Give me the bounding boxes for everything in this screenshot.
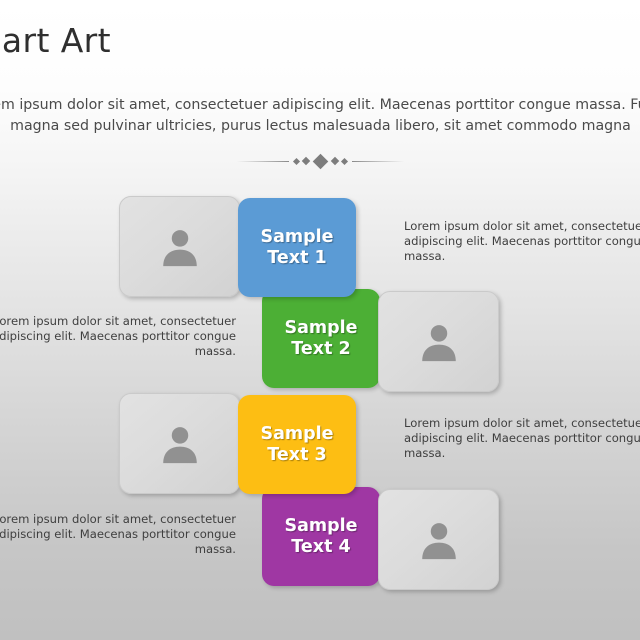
page-title: Smart Art <box>0 21 111 60</box>
description-2: Lorem ipsum dolor sit amet, consectetuer… <box>0 314 236 360</box>
page-subtitle: Lorem ipsum dolor sit amet, consectetuer… <box>0 95 640 137</box>
label-line-1: Sample <box>260 424 333 445</box>
divider-rule-left <box>237 161 289 162</box>
diagram-row-4: Sample Text 4 Lorem ipsum dolor sit amet… <box>0 487 640 590</box>
label-line-2: Text 4 <box>291 537 350 558</box>
label-card-2[interactable]: Sample Text 2 <box>262 289 380 388</box>
diamond-icon <box>330 157 338 165</box>
description-3: Lorem ipsum dolor sit amet, consectetuer… <box>404 416 640 462</box>
divider-gems <box>289 156 352 167</box>
label-card-3[interactable]: Sample Text 3 <box>238 395 356 494</box>
description-4: Lorem ipsum dolor sit amet, consectetuer… <box>0 512 236 558</box>
label-line-1: Sample <box>260 227 333 248</box>
ornament-divider <box>0 152 640 170</box>
icon-card-2[interactable] <box>378 291 499 392</box>
label-line-2: Text 1 <box>267 248 326 269</box>
label-line-2: Text 3 <box>267 445 326 466</box>
person-icon <box>416 517 462 563</box>
diamond-icon <box>340 157 347 164</box>
diagram-row-3: Sample Text 3 Lorem ipsum dolor sit amet… <box>0 393 640 496</box>
icon-card-1[interactable] <box>119 196 240 297</box>
label-card-4[interactable]: Sample Text 4 <box>262 487 380 586</box>
icon-card-4[interactable] <box>378 489 499 590</box>
diagram-row-2: Sample Text 2 Lorem ipsum dolor sit amet… <box>0 289 640 392</box>
label-line-1: Sample <box>284 516 357 537</box>
label-line-1: Sample <box>284 318 357 339</box>
label-card-1[interactable]: Sample Text 1 <box>238 198 356 297</box>
person-icon <box>157 421 203 467</box>
label-line-2: Text 2 <box>291 339 350 360</box>
diamond-icon <box>312 153 328 169</box>
diagram-row-1: Sample Text 1 Lorem ipsum dolor sit amet… <box>0 196 640 299</box>
person-icon <box>157 224 203 270</box>
diamond-icon <box>301 157 309 165</box>
icon-card-3[interactable] <box>119 393 240 494</box>
divider-rule-right <box>352 161 404 162</box>
person-icon <box>416 319 462 365</box>
diamond-icon <box>292 157 299 164</box>
description-1: Lorem ipsum dolor sit amet, consectetuer… <box>404 219 640 265</box>
